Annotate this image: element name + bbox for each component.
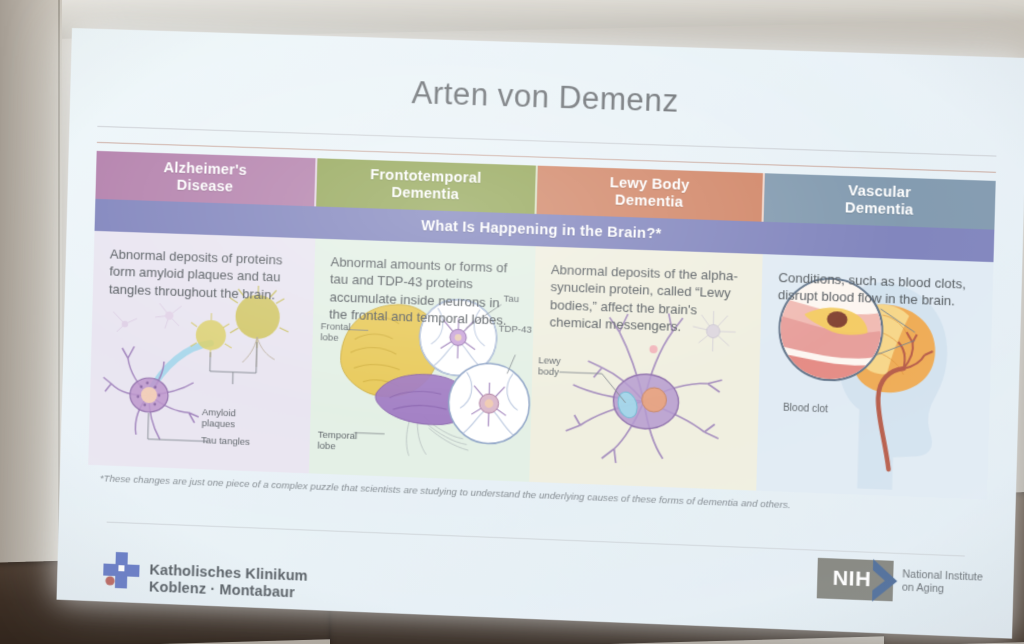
column-header-vascular[interactable]: Vascular Dementia [764,173,996,229]
column-body-text: Abnormal amounts or forms of tau and TDP… [313,239,536,330]
header-line-1: Frontotemporal [370,167,482,187]
label-tau-tangles: Tau tangles [201,435,250,448]
header-line-2: Dementia [615,192,684,210]
column-body-text: Abnormal deposits of the alpha-synuclein… [533,246,763,338]
projection-screen: Arten von Demenz Alzheimer's Disease Fro… [57,28,1024,639]
column-body-row: Abnormal deposits of proteins form amylo… [88,231,993,500]
header-line-1: Vascular [848,183,911,201]
label-blood-clot: Blood clot [783,403,828,417]
nih-logo: NIH National Institute on Aging [817,558,984,605]
nih-label-line2: on Aging [902,581,944,595]
klinikum-logo: Katholisches Klinikum Koblenz · Montabau… [101,547,309,602]
header-line-2: Dementia [391,185,459,203]
column-header-alzheimers[interactable]: Alzheimer's Disease [95,151,317,207]
footer-rule [107,522,965,557]
klinikum-label: Katholisches Klinikum Koblenz · Montabau… [149,562,308,602]
column-header-lewy-body[interactable]: Lewy Body Dementia [536,166,765,222]
column-header-frontotemporal[interactable]: Frontotemporal Dementia [316,158,538,214]
nih-mark: NIH [817,558,894,602]
page-title: Arten von Demenz [70,64,1024,131]
column-body-text: Abnormal deposits of proteins form amylo… [93,231,315,305]
chevron-right-icon [870,558,902,604]
column-body-text: Conditions, such as blood clots, disrupt… [761,254,993,311]
slide-canvas: Arten von Demenz Alzheimer's Disease Fro… [57,28,1024,639]
cross-icon [101,549,142,591]
label-amyloid-plaques: Amyloidplaques [201,407,236,431]
header-line-1: Lewy Body [609,175,689,194]
label-temporal-lobe: Temporallobe [317,430,357,454]
column-body-alzheimers: Abnormal deposits of proteins form amylo… [88,231,315,473]
section-banner-label: What Is Happening in the Brain?* [421,218,662,242]
label-lewy-body: Lewybody [538,355,561,379]
room-photo: Arten von Demenz Alzheimer's Disease Fro… [0,0,1024,644]
column-body-frontotemporal: Abnormal amounts or forms of tau and TDP… [309,239,536,482]
column-body-lewy: Abnormal deposits of the alpha-synuclein… [529,246,763,490]
label-frontal-lobe: Frontallobe [320,321,350,345]
header-line-1: Alzheimer's [163,160,247,179]
title-rule-gray [97,126,996,157]
label-tdp-43: TDP-43 [498,324,531,337]
header-line-2: Dementia [845,200,914,219]
nih-label: National Institute on Aging [902,568,983,598]
header-line-2: Disease [176,178,233,196]
column-body-vascular: Conditions, such as blood clots, disrupt… [756,254,993,499]
label-tau: Tau [503,293,519,305]
